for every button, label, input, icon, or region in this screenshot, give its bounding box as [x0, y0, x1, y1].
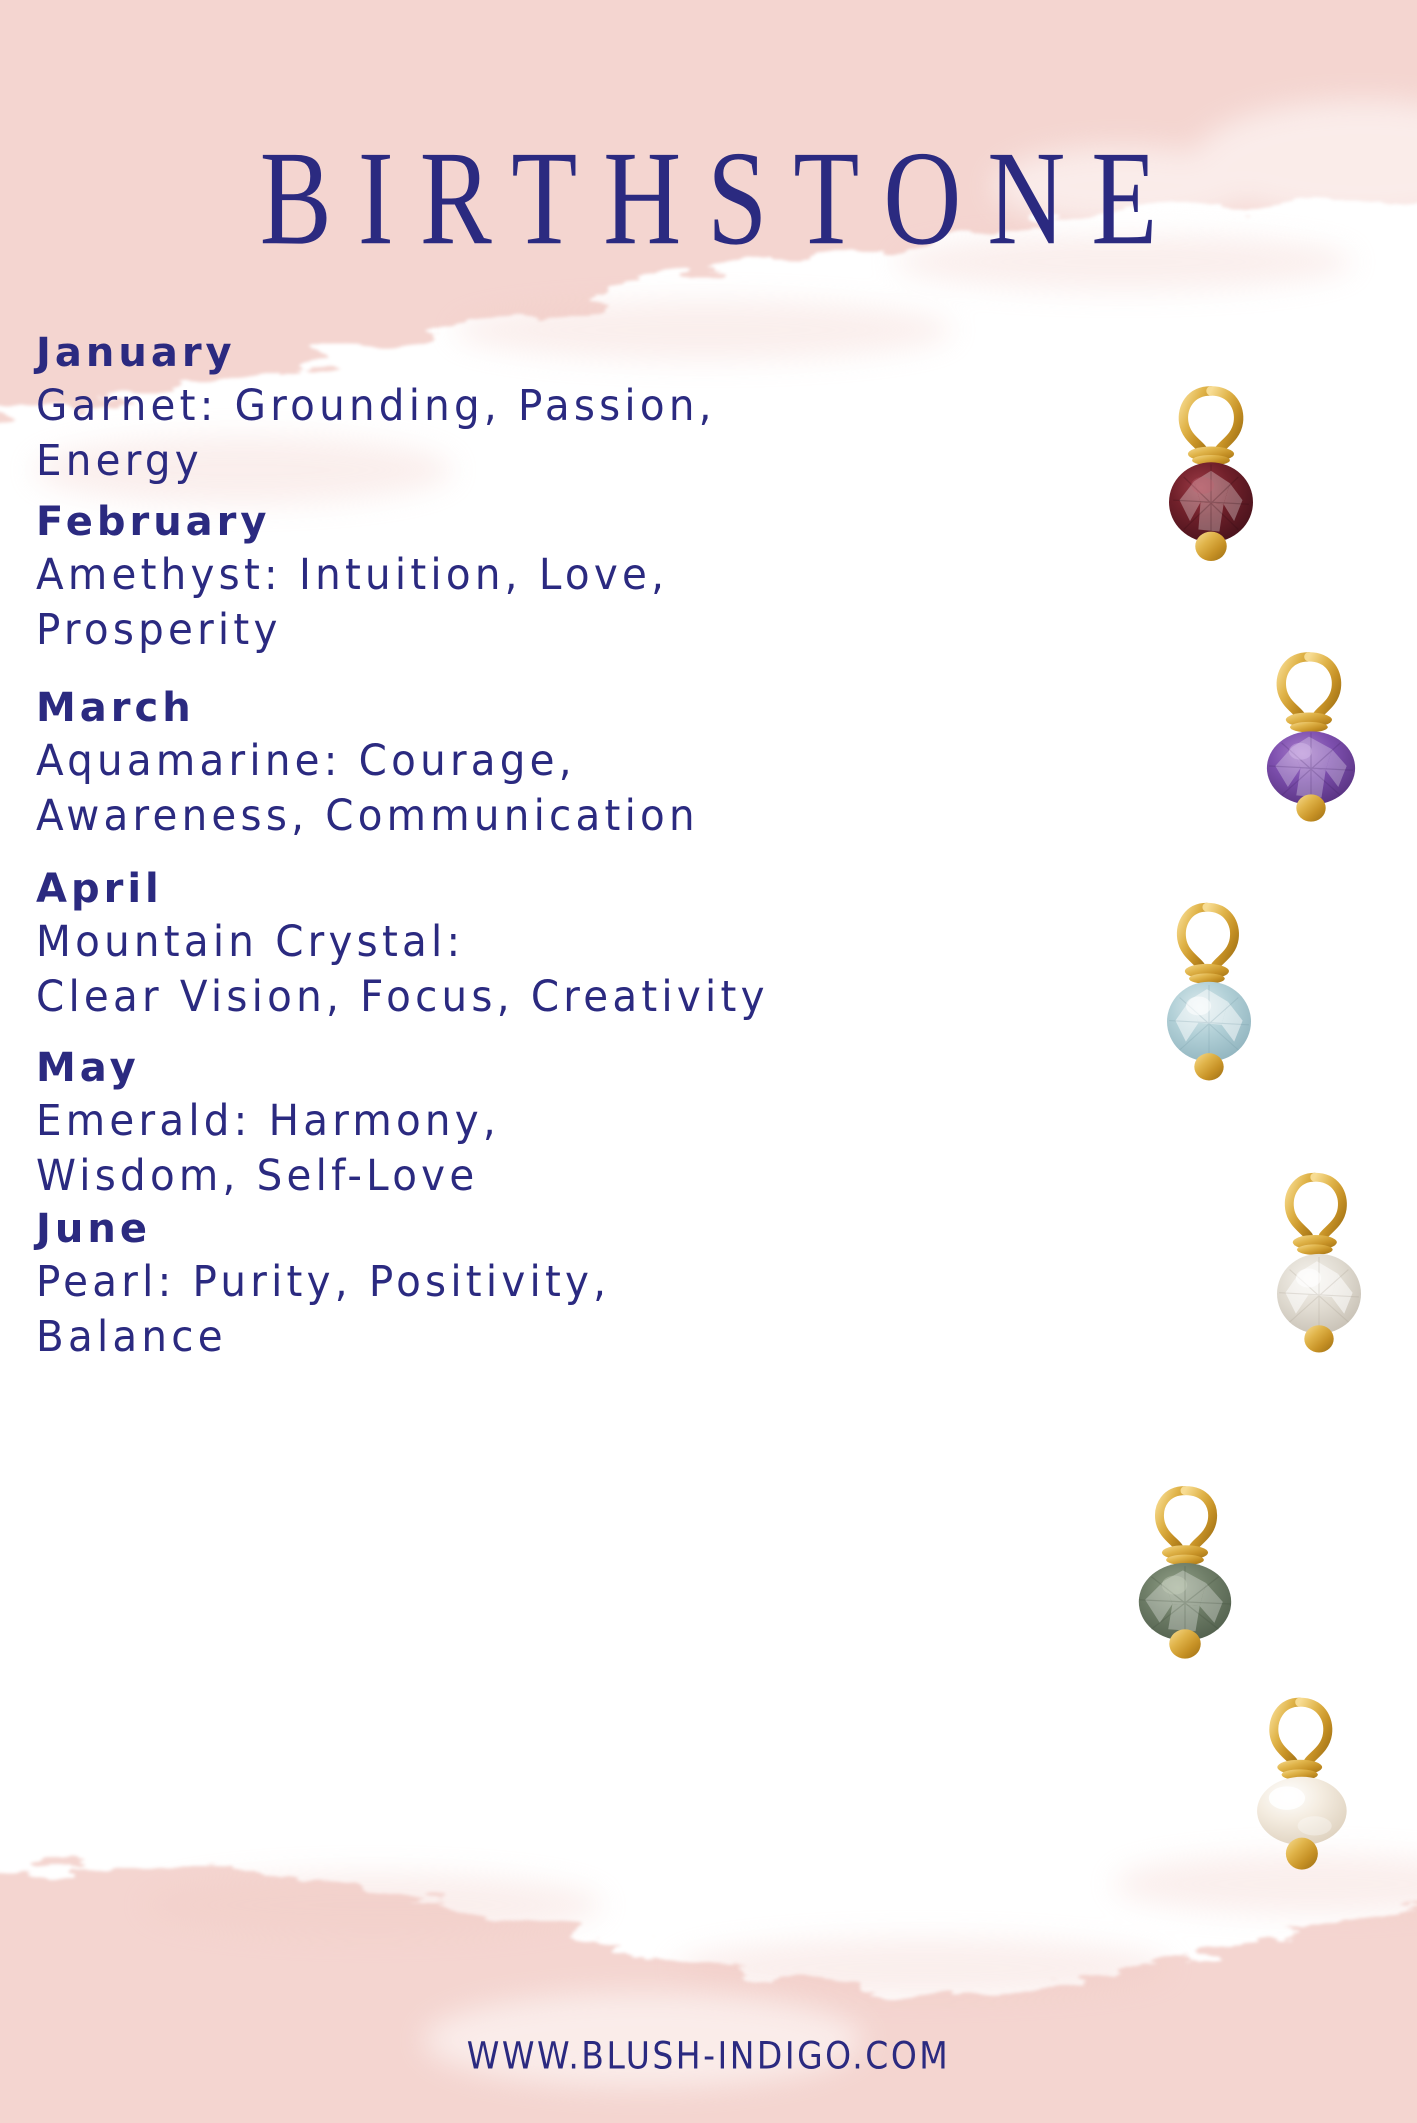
list-item: January Garnet: Grounding, Passion, Ener… [36, 330, 1036, 489]
stone-description-may: Emerald: Harmony, Wisdom, Self-Love [36, 1094, 976, 1204]
stone-description-april: Mountain Crystal: Clear Vision, Focus, C… [36, 915, 976, 1025]
list-item: March Aquamarine: Courage, Awareness, Co… [36, 685, 1036, 844]
aquamarine-charm [1146, 890, 1272, 1105]
month-label-january: January [36, 330, 1036, 377]
month-label-february: February [36, 499, 1036, 546]
month-label-april: April [36, 866, 1036, 913]
month-label-june: June [36, 1206, 1036, 1253]
emerald-charm [1122, 1478, 1248, 1688]
list-item: June Pearl: Purity, Positivity, Balance [36, 1206, 1036, 1365]
stone-description-january: Garnet: Grounding, Passion, Energy [36, 379, 976, 489]
stone-description-march: Aquamarine: Courage, Awareness, Communic… [36, 734, 976, 844]
amethyst-charm [1248, 640, 1374, 850]
month-label-may: May [36, 1045, 1036, 1092]
birthstone-poster: BIRTHSTONE January Garnet: Grounding, Pa… [0, 0, 1417, 2123]
list-item: May Emerald: Harmony, Wisdom, Self-Love [36, 1045, 1036, 1204]
garnet-charm [1148, 372, 1274, 582]
mountain-crystal-charm [1256, 1160, 1382, 1375]
page-title: BIRTHSTONE [0, 132, 1417, 267]
website-footer: WWW.BLUSH-INDIGO.COM [0, 2034, 1417, 2078]
stone-description-february: Amethyst: Intuition, Love, Prosperity [36, 548, 976, 658]
list-item: February Amethyst: Intuition, Love, Pros… [36, 499, 1036, 658]
list-item: April Mountain Crystal: Clear Vision, Fo… [36, 866, 1036, 1025]
pearl-charm [1240, 1686, 1368, 1906]
month-label-march: March [36, 685, 1036, 732]
birthstone-list: January Garnet: Grounding, Passion, Ener… [36, 330, 1036, 1370]
stone-description-june: Pearl: Purity, Positivity, Balance [36, 1255, 976, 1365]
